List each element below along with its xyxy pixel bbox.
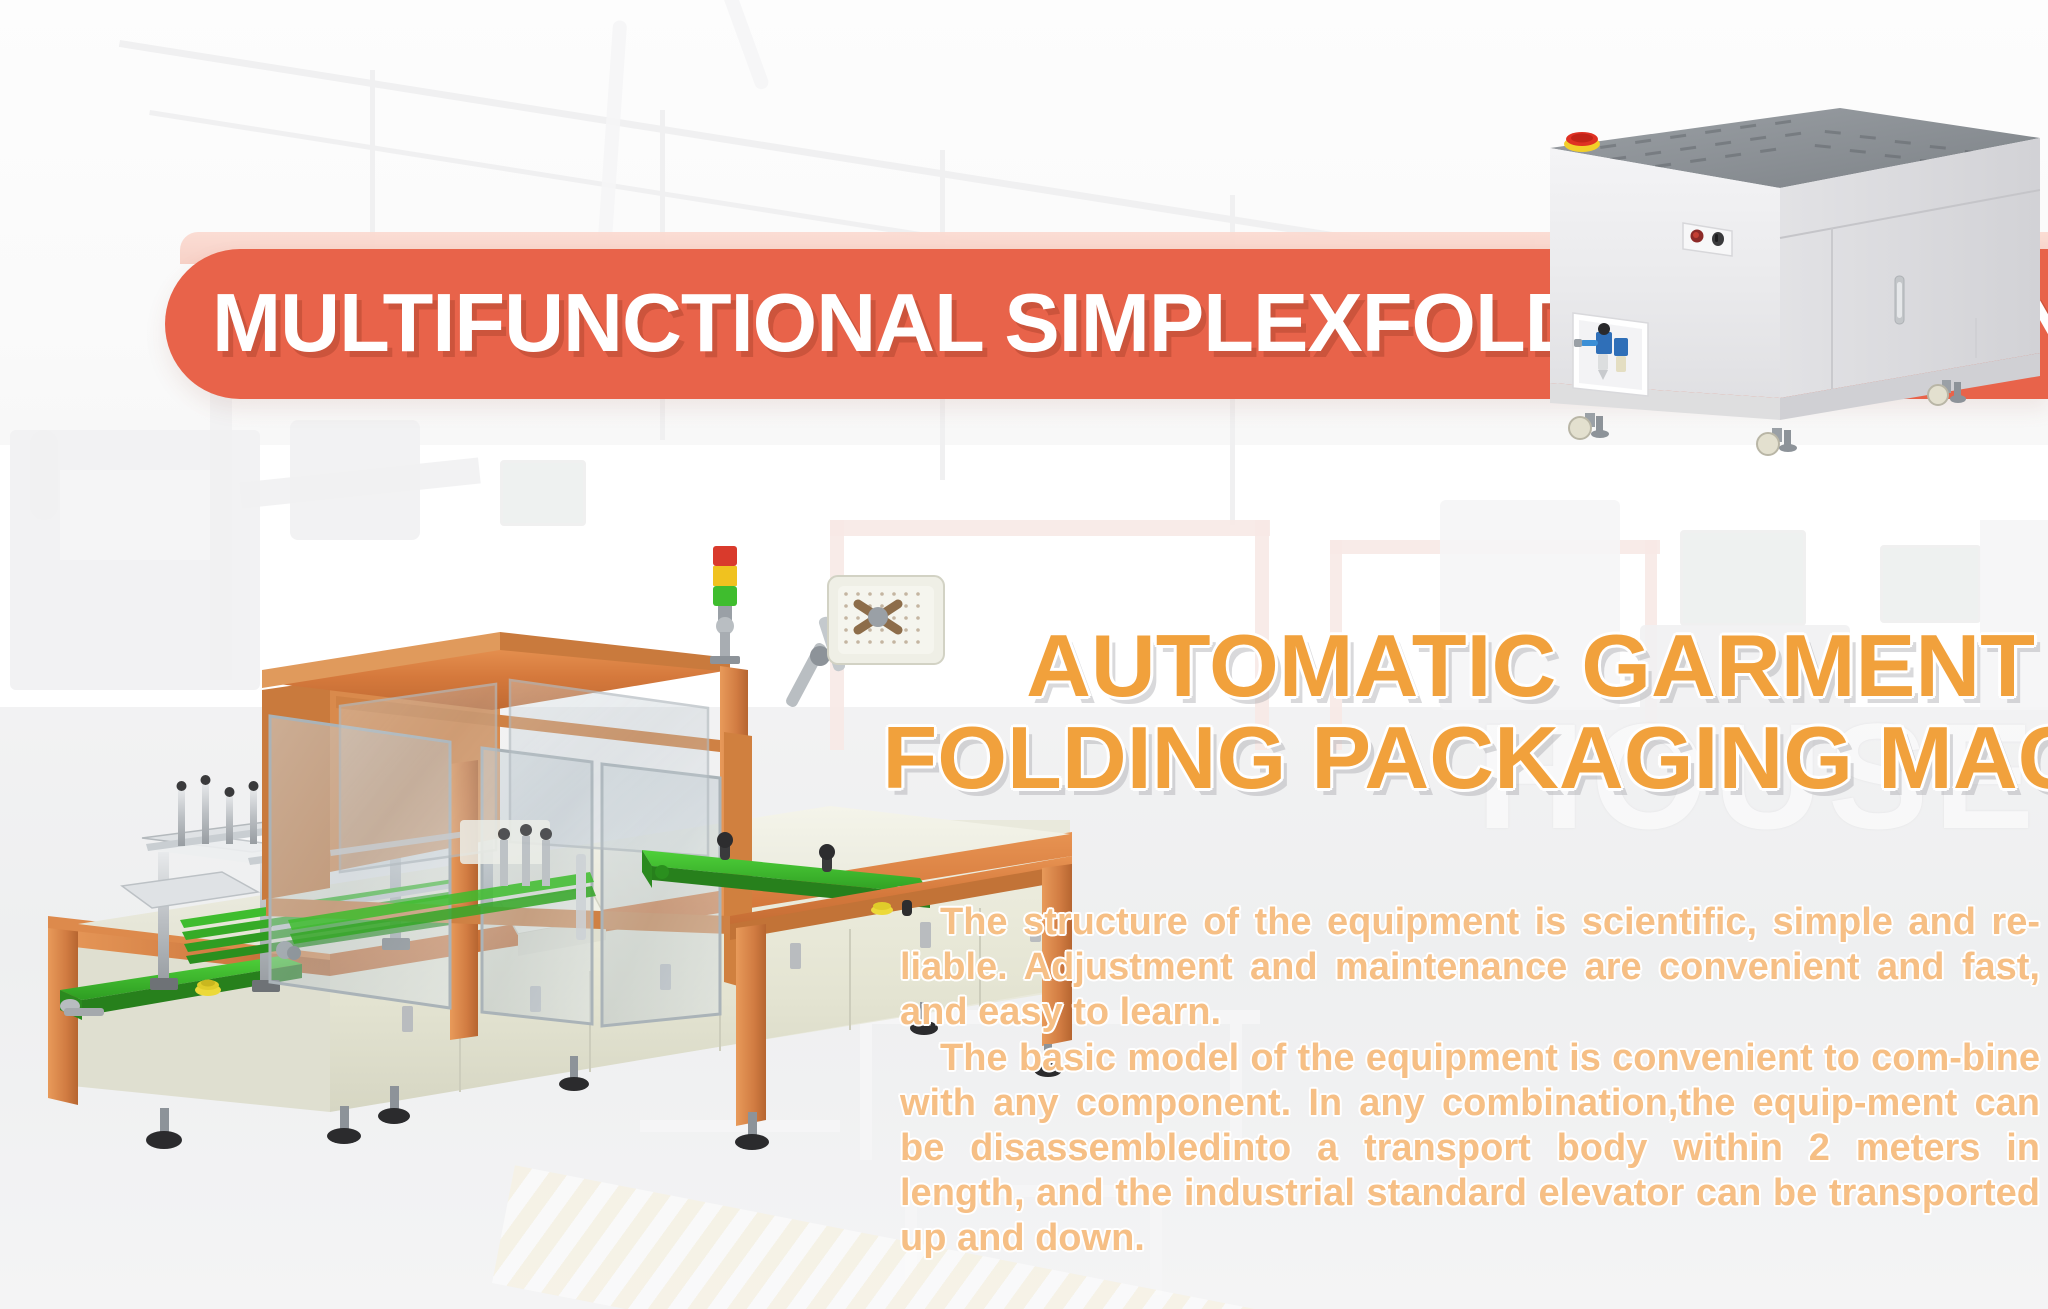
description-paragraph-1: The structure of the equipment is scient… — [900, 900, 2040, 1034]
leveling-foot — [735, 1134, 769, 1150]
leveling-foot — [378, 1108, 410, 1124]
lubricator-bowl — [1616, 356, 1626, 372]
ghost-monitor — [500, 460, 586, 526]
stack-light-red — [713, 546, 737, 566]
leveling-foot — [1950, 395, 1966, 403]
frame-leg — [158, 852, 169, 984]
door-handle[interactable] — [1895, 276, 1904, 324]
frl-air-unit — [1573, 313, 1648, 396]
headline-line-2: FOLDING PACKAGING MACHINE — [882, 712, 2035, 804]
packaging-control-cabinet — [1540, 108, 2040, 458]
stack-light — [710, 546, 740, 664]
regulator-body — [1596, 332, 1612, 354]
frame-foot — [150, 978, 178, 990]
ghost-monitor — [1880, 545, 1981, 623]
leveling-foot — [1779, 444, 1797, 452]
emergency-stop-button[interactable] — [1564, 132, 1600, 152]
regulator-knob — [1598, 323, 1610, 335]
headline-block: AUTOMATIC GARMENT FOLDING PACKAGING MACH… — [905, 620, 2035, 803]
stack-light-yellow — [713, 566, 737, 586]
door-handle[interactable] — [790, 943, 801, 969]
leveling-foot — [1591, 430, 1609, 438]
caster-wheel — [1928, 385, 1948, 405]
leveling-foot — [146, 1131, 182, 1149]
cabinet-illustration — [1540, 108, 2040, 458]
banner-title: MULTIFUNCTIONAL SIMPLEXFOLDING MACHINE — [212, 262, 1542, 384]
emergency-stop-button[interactable] — [871, 902, 893, 915]
leveling-foot — [327, 1128, 361, 1144]
description-paragraph-2: The basic model of the equipment is conv… — [900, 1036, 2040, 1260]
leveling-foot — [559, 1077, 589, 1091]
description-block: The structure of the equipment is scient… — [900, 900, 2040, 1263]
filter-body — [1614, 338, 1628, 356]
door-handle[interactable] — [402, 1006, 413, 1032]
headline-line-1: AUTOMATIC GARMENT — [882, 620, 2035, 712]
ghost-monitor — [1680, 530, 1806, 626]
stack-light-green — [713, 586, 737, 606]
stack-light-pole — [720, 632, 730, 658]
caster-wheel — [1757, 433, 1779, 455]
caster-wheel — [1569, 417, 1591, 439]
filter-bowl — [1598, 354, 1608, 370]
orange-post-center — [736, 924, 766, 1126]
conveyor-bracket — [64, 1008, 104, 1016]
ghost-stack-light — [30, 430, 58, 520]
poster-canvas: MULTIFUNCTIONAL SIMPLEXFOLDING MACHINE H… — [0, 0, 2048, 1309]
air-inlet — [1580, 340, 1598, 346]
